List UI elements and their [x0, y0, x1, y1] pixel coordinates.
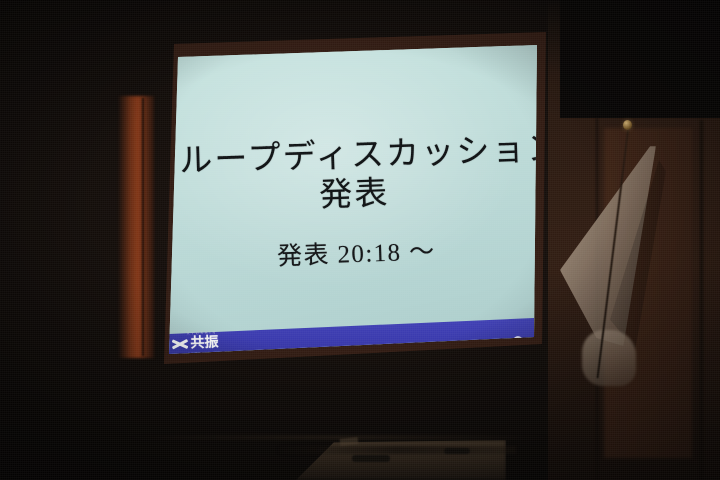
table-object-right	[444, 448, 470, 454]
table-object-left	[352, 455, 390, 462]
slide-surface: グループディスカッション 発表 発表 20:18 〜 KYOSHIN 共振 KY…	[150, 32, 546, 364]
presentation-room-scene: グループディスカッション 発表 発表 20:18 〜 KYOSHIN 共振 KY…	[0, 0, 720, 480]
table-edge	[276, 446, 516, 454]
gold-finial-icon	[623, 120, 632, 130]
jci-logo-tagline: Junior Chamber International	[463, 352, 524, 358]
slide-vignette	[150, 32, 546, 364]
flag-fold	[582, 330, 636, 386]
